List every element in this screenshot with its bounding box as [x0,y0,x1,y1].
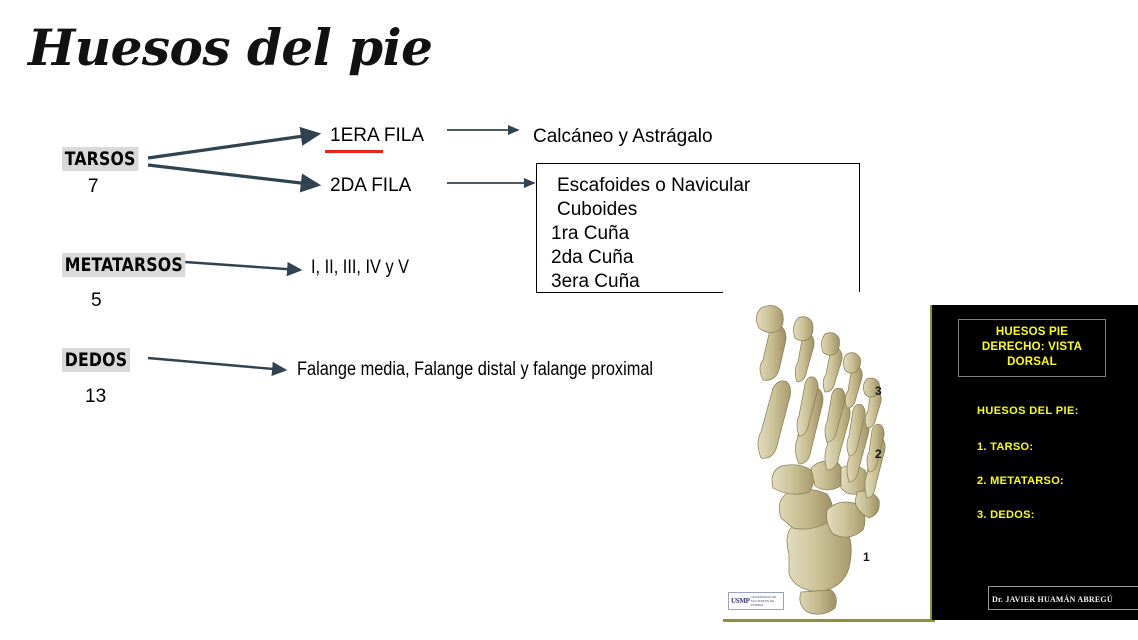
foot-skeleton-illustration [723,292,935,622]
category-count-metatarsos: 5 [91,290,102,312]
list-item: Escafoides o Navicular [551,174,859,198]
panel-list-heading: HUESOS DEL PIE: [977,405,1137,417]
panel-title-line-2: DERECHO: VISTA [963,340,1101,355]
category-count-dedos: 13 [85,386,106,408]
metatarsos-result: I, II, III, IV y V [311,257,409,279]
arrow-tarsos-to-1era-fila [148,134,318,158]
panel-title-box: HUESOS PIE DERECHO: VISTA DORSAL [958,319,1106,377]
tarsos-row-label-2da-fila: 2DA FILA [330,176,411,195]
panel-list-item-metatarso: 2. METATARSO: [977,475,1137,487]
foot-skeleton-figure: 1 2 3 USMP UNIVERSIDAD DE SAN MARTIN DE … [723,292,935,622]
panel-title-line-3: DORSAL [963,355,1101,370]
first-row-result: Calcáneo y Astrágalo [533,127,713,146]
tarsos-row-label-1era-fila: 1ERA FILA [330,126,424,145]
figure-number-1: 1 [863,550,870,564]
arrow-metatarsos-to-result [185,262,300,270]
usmp-logo-subtext: UNIVERSIDAD DE SAN MARTIN DE PORRES [750,595,783,607]
panel-author-name: Dr. JAVIER HUAMÁN ABREGÚ [992,595,1113,604]
list-item: 3era Cuña [551,270,859,294]
bone-list: Escafoides o Navicular Cuboides 1ra Cuña… [537,164,859,294]
red-underline [325,150,383,153]
category-label-dedos: DEDOS [62,348,130,372]
panel-list-item-tarso: 1. TARSO: [977,441,1137,453]
figure-number-3: 3 [875,384,882,398]
category-label-tarsos: TARSOS [62,147,138,171]
figure-bottom-rule [723,619,935,622]
panel-author-footer: Dr. JAVIER HUAMÁN ABREGÚ [988,586,1138,610]
arrow-dedos-to-result [148,358,285,370]
panel-list-item-dedos: 3. DEDOS: [977,509,1137,521]
page-title: Huesos del pie [28,18,432,77]
category-count-tarsos: 7 [88,176,99,198]
list-item: 1ra Cuña [551,222,859,246]
reference-slide-panel: HUESOS PIE DERECHO: VISTA DORSAL HUESOS … [930,305,1138,620]
list-item: 2da Cuña [551,246,859,270]
category-label-metatarsos: METATARSOS [62,253,186,277]
usmp-logo-text: USMP [729,597,750,605]
second-row-bone-list-box: Escafoides o Navicular Cuboides 1ra Cuña… [536,163,860,293]
figure-number-2: 2 [875,447,882,461]
arrow-tarsos-to-2da-fila [148,165,318,185]
dedos-result: Falange media, Falange distal y falange … [297,359,653,381]
usmp-watermark: USMP UNIVERSIDAD DE SAN MARTIN DE PORRES [728,592,784,610]
list-item: Cuboides [551,198,859,222]
panel-bone-list: HUESOS DEL PIE: 1. TARSO: 2. METATARSO: … [977,405,1137,543]
panel-title-line-1: HUESOS PIE [963,325,1101,340]
